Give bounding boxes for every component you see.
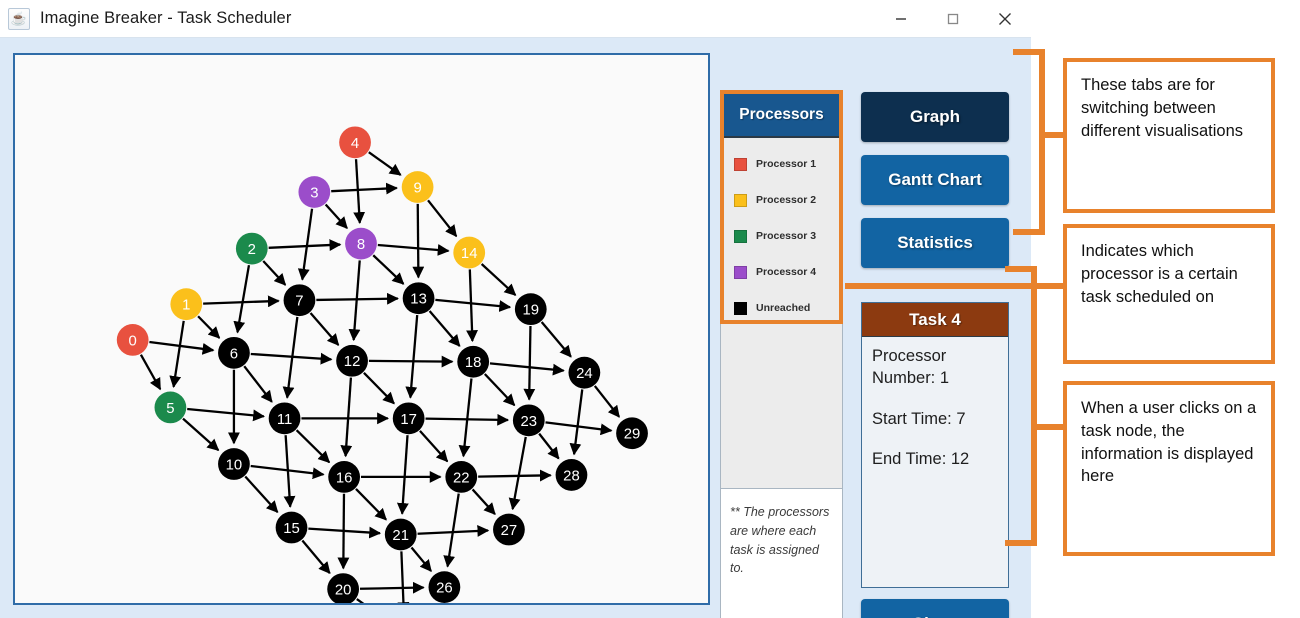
graph-node-23[interactable]: 23: [513, 404, 545, 436]
node-label: 1: [182, 298, 190, 314]
task-info-body: Processor Number: 1 Start Time: 7 End Ti…: [862, 337, 1008, 470]
tabs-bracket-bottom: [1013, 229, 1045, 235]
legend-color-swatch: [734, 194, 747, 207]
maximize-icon[interactable]: [927, 0, 979, 38]
node-label: 26: [436, 581, 453, 597]
graph-edge: [529, 326, 530, 399]
minimize-icon[interactable]: [875, 0, 927, 38]
graph-edge: [401, 551, 403, 603]
legend-callout-text: Indicates which processor is a certain t…: [1081, 240, 1257, 308]
graph-edge: [411, 547, 431, 571]
graph-node-7[interactable]: 7: [284, 284, 316, 316]
graph-edge: [187, 409, 264, 416]
node-label: 20: [335, 583, 352, 599]
legend-item-label: Processor 4: [756, 266, 816, 278]
graph-node-27[interactable]: 27: [493, 514, 525, 546]
graph-edge: [485, 374, 515, 405]
graph-canvas[interactable]: 0123456789101112131415161718192021222324…: [13, 53, 710, 605]
legend-title-bar: Processors: [724, 94, 839, 138]
graph-edge: [346, 378, 351, 457]
node-label: 24: [576, 366, 593, 382]
graph-edge: [141, 355, 160, 390]
legend-item-1: Processor 1: [734, 146, 839, 182]
graph-edge: [311, 313, 339, 345]
legend-item-4: Processor 4: [734, 254, 839, 290]
legend-note-box: ** The processors are where each task is…: [720, 489, 843, 618]
graph-edge: [435, 300, 510, 307]
tab-gantt-chart-button[interactable]: Gantt Chart: [861, 155, 1009, 205]
task-info-panel: Task 4 Processor Number: 1 Start Time: 7…: [861, 302, 1009, 588]
window-controls: [875, 0, 1031, 38]
graph-node-8[interactable]: 8: [345, 228, 377, 260]
graph-node-14[interactable]: 14: [453, 237, 485, 269]
java-coffee-icon: ☕: [8, 8, 30, 30]
legend-color-swatch: [734, 158, 747, 171]
graph-edge: [378, 245, 449, 251]
graph-node-6[interactable]: 6: [218, 337, 250, 369]
node-label: 5: [166, 401, 174, 417]
tabs-callout: These tabs are for switching between dif…: [1063, 58, 1275, 213]
node-label: 13: [410, 292, 427, 308]
graph-edge: [420, 431, 447, 462]
node-label: 4: [351, 136, 359, 152]
graph-edge: [539, 434, 558, 459]
graph-edge: [490, 363, 564, 370]
title-bar: ☕ Imagine Breaker - Task Scheduler: [0, 0, 1031, 38]
graph-edge: [237, 265, 248, 332]
node-label: 19: [522, 303, 539, 319]
graph-node-9[interactable]: 9: [402, 171, 434, 203]
task-end-time: End Time: 12: [872, 448, 998, 470]
node-label: 22: [453, 470, 470, 486]
node-label: 27: [501, 523, 518, 539]
graph-edge: [356, 489, 386, 520]
legend-color-swatch: [734, 230, 747, 243]
graph-edge: [473, 489, 495, 514]
graph-node-17[interactable]: 17: [393, 402, 425, 434]
legend-items: Processor 1Processor 2Processor 3Process…: [724, 138, 839, 320]
tab-statistics-button[interactable]: Statistics: [861, 218, 1009, 268]
graph-edge: [297, 430, 330, 462]
graph-edge: [269, 245, 341, 248]
graph-node-19[interactable]: 19: [515, 293, 547, 325]
node-label: 0: [129, 333, 137, 349]
graph-edge: [357, 599, 388, 603]
graph-edge: [302, 209, 312, 280]
graph-node-1[interactable]: 1: [170, 288, 202, 320]
graph-edge: [595, 386, 619, 417]
graph-edge: [448, 494, 459, 567]
legend-bracket-arm: [845, 283, 1077, 289]
graph-edge: [263, 261, 285, 285]
legend-item-3: Processor 3: [734, 218, 839, 254]
legend-item-5: Unreached: [734, 290, 839, 326]
taskinfo-bracket-spine: [1031, 266, 1037, 546]
graph-edge: [513, 437, 526, 509]
graph-edge: [183, 419, 218, 450]
graph-edge: [331, 188, 397, 191]
graph-edge: [574, 389, 582, 454]
graph-edge: [198, 316, 219, 338]
node-label: 2: [248, 242, 256, 258]
node-label: 28: [563, 468, 580, 484]
task-start-time: Start Time: 7: [872, 408, 998, 430]
graph-node-13[interactable]: 13: [403, 282, 435, 314]
taskinfo-callout: When a user clicks on a task node, the i…: [1063, 381, 1275, 556]
graph-edge: [542, 322, 571, 357]
node-label: 10: [226, 457, 243, 473]
legend-item-label: Processor 3: [756, 230, 816, 242]
graph-node-3[interactable]: 3: [298, 176, 330, 208]
graph-edge: [203, 301, 278, 304]
legend-empty-area: [720, 324, 843, 489]
close-button[interactable]: Close: [861, 599, 1009, 618]
legend-item-2: Processor 2: [734, 182, 839, 218]
main-window: ☕ Imagine Breaker - Task Scheduler: [0, 0, 1031, 618]
processors-legend: Processors Processor 1Processor 2Process…: [720, 90, 843, 324]
legend-note-text: ** The processors are where each task is…: [730, 503, 834, 578]
graph-edge: [463, 379, 471, 457]
taskinfo-callout-text: When a user clicks on a task node, the i…: [1081, 397, 1257, 488]
task-info-header: Task 4: [862, 303, 1008, 337]
graph-edge: [326, 205, 347, 229]
graph-node-16[interactable]: 16: [328, 461, 360, 493]
node-label: 15: [283, 521, 300, 537]
node-label: 16: [336, 470, 353, 486]
node-label: 29: [624, 427, 641, 443]
tabs-callout-text: These tabs are for switching between dif…: [1081, 74, 1257, 142]
graph-edge: [174, 321, 184, 387]
graph-node-18[interactable]: 18: [457, 346, 489, 378]
node-label: 17: [400, 412, 417, 428]
taskinfo-bracket-bottom: [1005, 540, 1037, 546]
graph-edge: [244, 366, 272, 402]
node-label: 7: [295, 294, 303, 310]
graph-edge: [343, 494, 344, 568]
node-label: 9: [413, 180, 421, 196]
graph-node-11[interactable]: 11: [269, 402, 301, 434]
graph-node-15[interactable]: 15: [276, 512, 308, 544]
tabs-bracket-spine: [1039, 49, 1045, 235]
task-graph-svg: 0123456789101112131415161718192021222324…: [15, 55, 708, 603]
graph-node-20[interactable]: 20: [327, 573, 359, 603]
legend-item-label: Processor 2: [756, 194, 816, 206]
graph-edge: [482, 264, 516, 295]
legend-item-label: Processor 1: [756, 158, 816, 170]
graph-node-0[interactable]: 0: [117, 324, 149, 356]
legend-item-label: Unreached: [756, 302, 810, 314]
task-processor-number: Processor Number: 1: [872, 345, 998, 390]
node-label: 18: [465, 355, 482, 371]
graph-edge: [302, 540, 329, 573]
graph-edge: [478, 475, 550, 476]
node-label: 11: [277, 412, 292, 428]
node-label: 23: [521, 414, 538, 430]
graph-edge: [402, 435, 407, 514]
window-title: Imagine Breaker - Task Scheduler: [40, 9, 291, 28]
node-label: 6: [230, 346, 238, 362]
graph-nodes: 0123456789101112131415161718192021222324…: [117, 126, 648, 603]
node-label: 8: [357, 237, 365, 253]
graph-node-12[interactable]: 12: [336, 345, 368, 377]
close-icon[interactable]: [979, 0, 1031, 38]
graph-edge: [470, 269, 473, 341]
graph-node-5[interactable]: 5: [155, 392, 187, 424]
graph-edge: [364, 373, 394, 404]
window-content: 0123456789101112131415161718192021222324…: [0, 38, 1031, 618]
graph-node-10[interactable]: 10: [218, 448, 250, 480]
task-info-title: Task 4: [909, 310, 961, 330]
graph-edge: [410, 315, 417, 398]
graph-edge: [245, 477, 277, 513]
graph-edge: [430, 311, 460, 346]
graph-node-22[interactable]: 22: [445, 461, 477, 493]
node-label: 21: [392, 528, 409, 544]
graph-node-28[interactable]: 28: [556, 459, 588, 491]
application-root: ☕ Imagine Breaker - Task Scheduler: [0, 0, 1300, 618]
graph-node-2[interactable]: 2: [236, 233, 268, 265]
legend-callout: Indicates which processor is a certain t…: [1063, 224, 1275, 364]
node-label: 14: [461, 246, 478, 262]
graph-edge: [369, 152, 401, 175]
graph-edge: [373, 255, 403, 284]
legend-color-swatch: [734, 302, 747, 315]
node-label: 3: [310, 185, 318, 201]
legend-color-swatch: [734, 266, 747, 279]
graph-node-26[interactable]: 26: [429, 571, 461, 603]
graph-edge: [428, 200, 456, 236]
graph-edge: [418, 204, 419, 277]
graph-edges: [141, 152, 619, 603]
graph-node-24[interactable]: 24: [568, 357, 600, 389]
tab-graph-button[interactable]: Graph: [861, 92, 1009, 142]
graph-node-29[interactable]: 29: [616, 417, 648, 449]
legend-title: Processors: [739, 106, 823, 124]
graph-edge: [369, 361, 452, 362]
graph-edge: [360, 588, 424, 589]
graph-node-4[interactable]: 4: [339, 126, 371, 158]
node-label: 12: [344, 354, 361, 370]
graph-node-21[interactable]: 21: [385, 519, 417, 551]
